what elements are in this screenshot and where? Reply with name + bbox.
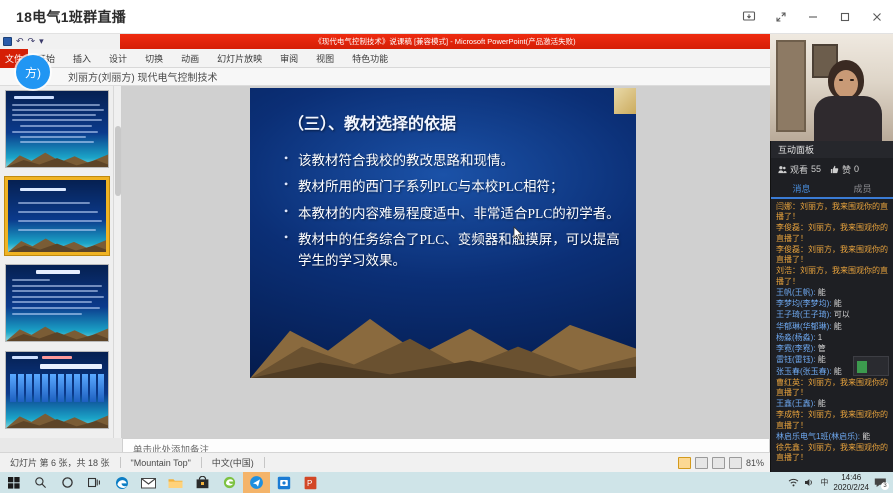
window-controls [733, 0, 893, 34]
slide-bullet-item: 该教材符合我校的教改思路和现情。 [282, 150, 622, 171]
live-app-icon[interactable] [243, 472, 270, 493]
clock-time: 14:46 [841, 473, 861, 482]
share-screen-icon[interactable] [733, 0, 765, 34]
window-titlebar: 18电气1班群直播 [0, 0, 893, 34]
slide-thumbnail-chart[interactable] [5, 351, 109, 429]
tab-messages[interactable]: 消息 [771, 182, 832, 197]
webcam-person-eye [839, 79, 843, 81]
microsoft-store-icon[interactable] [189, 472, 216, 493]
chat-body: 管 [818, 344, 826, 353]
chat-message: 李俊磊：刘丽方，我来围观你的直播了！ [776, 245, 888, 265]
minimize-icon[interactable] [797, 0, 829, 34]
webcam-person-body [814, 96, 882, 141]
chat-body: 能 [818, 355, 826, 364]
thumbnail-text-line [20, 125, 92, 127]
mountain-graphic [8, 235, 106, 252]
powerpoint-icon[interactable]: P [297, 472, 324, 493]
powerpoint-titlebar: 《现代电气控制技术》说课稿 [兼容模式] - Microsoft PowerPo… [120, 34, 770, 49]
window-title: 18电气1班群直播 [16, 7, 126, 27]
slide-title[interactable]: （三）、教材选择的依据 [288, 110, 456, 134]
viewers-icon [778, 165, 787, 174]
thumbnail-text-line [12, 114, 96, 116]
slideshow-view-button[interactable] [729, 457, 742, 469]
chat-sender: 王子琦(王子琦): [776, 310, 832, 319]
slide-thumbnail-pane[interactable] [0, 86, 122, 438]
slide-mountain-graphic [250, 303, 636, 378]
chat-message: 李成特：刘丽方，我来围观你的直播了！ [776, 410, 888, 430]
thumbnail-text-line [18, 211, 98, 213]
ribbon-tab-slideshow[interactable]: 幻灯片放映 [208, 49, 271, 68]
ribbon-tab-insert[interactable]: 插入 [64, 49, 100, 68]
thumbnail-text-line [12, 119, 102, 121]
close-icon[interactable] [861, 0, 893, 34]
chat-message: 李梦均(李梦均): 能 [776, 299, 888, 309]
ribbon-tab-review[interactable]: 审阅 [271, 49, 307, 68]
avatar-label: 方) [25, 64, 41, 81]
theme-status: "Mountain Top" [121, 458, 201, 468]
chat-message: 李俊磊：刘丽方，我来围观你的直播了！ [776, 223, 888, 243]
slide-thumbnail[interactable] [5, 264, 109, 342]
start-icon[interactable] [0, 472, 27, 493]
slide-thumbnail[interactable] [5, 90, 109, 168]
ribbon-tabs: 文件 开始 插入 设计 切换 动画 幻灯片放映 审阅 视图 特色功能 [0, 49, 770, 68]
ime-indicator[interactable]: 中 [820, 477, 828, 488]
slide-thumbnail-selected[interactable] [5, 177, 109, 255]
status-divider [264, 457, 265, 468]
mountain-graphic [6, 149, 108, 167]
chat-body: 可以 [834, 310, 850, 319]
webcam-door [776, 40, 806, 132]
chat-body: 能 [834, 322, 842, 331]
thumbnail-text-line [12, 290, 98, 292]
thumbnail-title-line [42, 356, 72, 359]
thumbnail-title-line [20, 188, 66, 191]
thumbnail-text-line [12, 313, 82, 315]
thumbs-up-icon [830, 165, 839, 174]
chat-sender: 华郁琳(华郁琳): [776, 322, 832, 331]
powerpoint-title: 《现代电气控制技术》说课稿 [兼容模式] - Microsoft PowerPo… [314, 36, 575, 47]
chat-sender: 李梦均(李梦均): [776, 299, 832, 308]
chat-body: 1 [818, 333, 822, 342]
windows-taskbar: P 中 14:46 2020/2/24 3 [0, 472, 893, 493]
chat-body: 能 [834, 367, 842, 376]
chat-message: 刘浩：刘丽方，我来围观你的直播了！ [776, 266, 888, 286]
chat-sender: 杨淼(杨淼): [776, 333, 816, 342]
slide-bullet-item: 教材中的任务综合了PLC、变频器和触摸屏，可以提高学生的学习效果。 [282, 229, 622, 272]
view-controls: 81% [678, 457, 770, 469]
search-icon[interactable] [27, 472, 54, 493]
chat-sender: 林启乐电气1班(林启乐): [776, 432, 860, 441]
zoom-level-label[interactable]: 81% [746, 458, 764, 468]
chat-body: 能 [834, 299, 842, 308]
expand-icon[interactable] [765, 0, 797, 34]
thumbnail-text-line [12, 307, 100, 309]
normal-view-button[interactable] [678, 457, 691, 469]
reading-view-button[interactable] [712, 457, 725, 469]
thumbnail-text-line [18, 229, 96, 231]
thumbnail-text-line [20, 136, 86, 138]
browser-icon[interactable] [216, 472, 243, 493]
webcam-person-face [834, 70, 858, 98]
likes-count: 0 [854, 164, 859, 174]
thumbnail-text-line [12, 104, 100, 106]
thumbnail-title-line [12, 356, 38, 359]
current-slide[interactable]: （三）、教材选择的依据 该教材符合我校的教改思路和现情。 教材所用的西门子系列P… [250, 88, 636, 378]
thumbnail-text-line [20, 141, 94, 143]
panel-tabs: 消息 成员 [771, 180, 893, 199]
chat-sender: 王鑫(王鑫): [776, 399, 816, 408]
document-owner-label: 刘丽方(刘丽方) 现代电气控制技术 [68, 69, 217, 84]
chat-sender: 张玉春(张玉春): [776, 367, 832, 376]
chat-message: 华郁琳(华郁琳): 能 [776, 322, 888, 332]
chat-message: 王帆(王帆): 能 [776, 288, 888, 298]
wifi-icon[interactable] [788, 477, 799, 488]
thumbnail-text-line [18, 220, 102, 222]
thumbnail-text-line [18, 202, 90, 204]
chat-message: 王鑫(王鑫): 能 [776, 399, 888, 409]
slide-bullet-item: 本教材的内容难易程度适中、非常适合PLC的初学者。 [282, 203, 622, 224]
chat-message-list[interactable]: 闫娜：刘丽方，我来围观你的直播了！ 李俊磊：刘丽方，我来围观你的直播了！ 李俊磊… [771, 199, 893, 472]
thumbnail-scrollbar[interactable] [113, 86, 121, 438]
thumbnail-header-bar [40, 364, 102, 369]
chat-body: 能 [818, 288, 826, 297]
slide-position-status: 幻灯片 第 6 张，共 18 张 [0, 456, 120, 469]
undo-icon[interactable]: ↶ [16, 37, 24, 46]
chat-body: 能 [818, 399, 826, 408]
thumbnail-title-line [36, 270, 80, 274]
user-avatar[interactable]: 方) [16, 55, 50, 89]
slide-corner-decoration [614, 88, 636, 114]
thumbnail-text-line [12, 285, 102, 287]
ribbon-tab-view[interactable]: 视图 [307, 49, 343, 68]
powerpoint-window: ↶ ↷ ▾ 《现代电气控制技术》说课稿 [兼容模式] - Microsoft P… [0, 34, 770, 472]
quick-access-toolbar: ↶ ↷ ▾ [0, 34, 120, 49]
thumbnail-text-line [12, 109, 104, 111]
panel-title: 互动面板 [771, 141, 893, 158]
volume-icon[interactable] [804, 477, 815, 488]
system-tray: 中 14:46 2020/2/24 3 [788, 472, 893, 493]
file-explorer-icon[interactable] [162, 472, 189, 493]
mail-icon[interactable] [135, 472, 162, 493]
thumbnail-text-line [12, 279, 50, 281]
chat-message: 李霓(李霓): 管 [776, 344, 888, 354]
chat-sender: 李霓(李霓): [776, 344, 816, 353]
slide-bullet-list[interactable]: 该教材符合我校的教改思路和现情。 教材所用的西门子系列PLC与本校PLC相符； … [282, 150, 622, 277]
notification-center-button[interactable]: 3 [874, 477, 887, 489]
document-subbar: 刘丽方(刘丽方) 现代电气控制技术 [0, 68, 770, 86]
powerpoint-status-bar: 幻灯片 第 6 张，共 18 张 "Mountain Top" 中文(中国) 8… [0, 452, 770, 472]
slide-bullet-item: 教材所用的西门子系列PLC与本校PLC相符； [282, 176, 622, 197]
mountain-graphic [6, 410, 108, 428]
viewer-count-stat: 观看 55 [778, 163, 821, 176]
chat-message: 徐先鑫：刘丽方，我来围观你的直播了！ [776, 443, 888, 463]
mouse-cursor-icon [513, 226, 524, 241]
scrollbar-thumb[interactable] [115, 126, 121, 196]
thumbnail-text-line [12, 301, 92, 303]
chat-message: 林启乐电气1班(林启乐): 能 [776, 432, 888, 442]
chat-message: 闫娜：刘丽方，我来围观你的直播了！ [776, 202, 888, 222]
widget-indicator [857, 361, 867, 373]
chat-sender: 雷钰(雷钰): [776, 355, 816, 364]
maximize-icon[interactable] [829, 0, 861, 34]
svg-text:P: P [307, 479, 312, 488]
mountain-graphic [6, 323, 108, 341]
language-status: 中文(中国) [202, 456, 264, 469]
thumbnail-text-line [12, 296, 104, 298]
chat-sender: 王帆(王帆): [776, 288, 816, 297]
save-icon[interactable] [3, 37, 12, 46]
live-stream-window: 18电气1班群直播 ↶ ↷ ▾ 《 [0, 0, 893, 493]
thumbnail-chart-bars [10, 374, 104, 402]
redo-icon[interactable]: ↷ [28, 37, 36, 46]
taskbar-clock[interactable]: 14:46 2020/2/24 [833, 473, 869, 491]
thumbnail-text-line [12, 131, 98, 133]
chat-message: 王子琦(王子琦): 可以 [776, 310, 888, 320]
slide-sorter-view-button[interactable] [695, 457, 708, 469]
likes-label: 赞 [842, 163, 851, 176]
webcam-video-feed[interactable] [770, 34, 893, 141]
webcam-person-eye [850, 79, 854, 81]
chat-message: 曹红英：刘丽方，我来围观你的直播了！ [776, 378, 888, 398]
ribbon-tab-animations[interactable]: 动画 [172, 49, 208, 68]
notification-count: 3 [881, 482, 889, 490]
clock-date: 2020/2/24 [833, 483, 869, 492]
customize-icon[interactable]: ▾ [39, 37, 44, 46]
panel-floating-widget[interactable] [853, 356, 889, 376]
viewers-count: 55 [811, 164, 821, 174]
like-count-stat[interactable]: 赞 0 [830, 163, 859, 176]
slide-editing-area: （三）、教材选择的依据 该教材符合我校的教改思路和现情。 教材所用的西门子系列P… [122, 86, 770, 438]
ribbon-tab-design[interactable]: 设计 [100, 49, 136, 68]
thumbnail-title-line [14, 96, 54, 99]
panel-stats: 观看 55 赞 0 [771, 158, 893, 180]
task-view-icon[interactable] [81, 472, 108, 493]
media-player-icon[interactable] [270, 472, 297, 493]
ribbon-tab-features[interactable]: 特色功能 [343, 49, 397, 68]
viewers-label: 观看 [790, 163, 808, 176]
tab-members[interactable]: 成员 [832, 182, 893, 197]
cortana-icon[interactable] [54, 472, 81, 493]
ribbon-tab-transitions[interactable]: 切换 [136, 49, 172, 68]
edge-browser-icon[interactable] [108, 472, 135, 493]
interaction-panel: 互动面板 观看 55 赞 0 消息 成员 闫娜：刘丽方，我来围观你的直播了！ 李… [770, 141, 893, 472]
chat-message: 杨淼(杨淼): 1 [776, 333, 888, 343]
chat-body: 能 [862, 432, 870, 441]
